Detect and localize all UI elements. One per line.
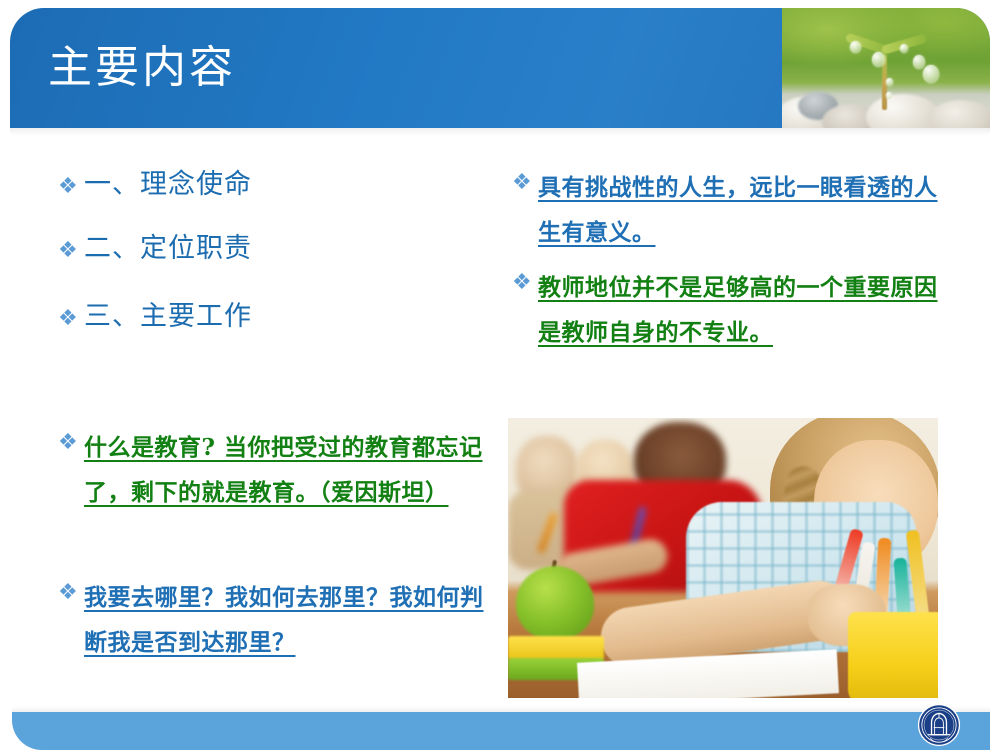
classroom-photo: [508, 418, 938, 698]
diamond-bullet-icon: ❖: [512, 172, 538, 194]
quote-left-2: ❖ 我要去哪里？我如何去那里？我如何判断我是否到达那里？: [58, 575, 488, 665]
quote-left-1-text: 什么是教育? 当你把受过的教育都忘记了，剩下的就是教育。（爱因斯坦）: [84, 425, 488, 515]
quote-right-1: ❖ 具有挑战性的人生，远比一眼看透的人生有意义。: [512, 165, 942, 255]
quote-right-2-text: 教师地位并不是足够高的一个重要原因是教师自身的不专业。: [538, 265, 942, 355]
nav-list-item-1[interactable]: ❖ 一、理念使命: [58, 168, 252, 202]
diamond-bullet-icon: ❖: [58, 240, 84, 262]
nav-list-item-label: 二、定位职责: [84, 232, 252, 266]
diamond-bullet-icon: ❖: [58, 176, 84, 198]
nav-list-item-2[interactable]: ❖ 二、定位职责: [58, 232, 252, 266]
diamond-bullet-icon: ❖: [58, 308, 84, 330]
quote-left-2-text: 我要去哪里？我如何去那里？我如何判断我是否到达那里？: [84, 575, 488, 665]
quote-left-1: ❖ 什么是教育? 当你把受过的教育都忘记了，剩下的就是教育。（爱因斯坦）: [58, 425, 488, 515]
quote-right-2-label: 教师地位并不是足够高的一个重要原因是教师自身的不专业。: [538, 274, 938, 346]
nav-list-item-label: 三、主要工作: [84, 300, 252, 334]
quote-right-2: ❖ 教师地位并不是足够高的一个重要原因是教师自身的不专业。: [512, 265, 942, 355]
diamond-bullet-icon: ❖: [512, 272, 538, 294]
slide-canvas: 主要内容 ❖ 一、理念使命 ❖ 二、定位职责 ❖ 三、主要工作 ❖ 具有挑战性的…: [0, 0, 1000, 750]
quote-left-1-label: 什么是教育? 当你把受过的教育都忘记了，剩下的就是教育。（爱因斯坦）: [84, 434, 482, 506]
nav-list-item-label: 一、理念使命: [84, 168, 252, 202]
quote-left-2-label: 我要去哪里？我如何去那里？我如何判断我是否到达那里？: [84, 584, 484, 656]
footer-band: [12, 712, 990, 750]
diamond-bullet-icon: ❖: [58, 432, 84, 454]
diamond-bullet-icon: ❖: [58, 582, 84, 604]
university-seal-logo-icon: [917, 703, 961, 747]
quote-right-1-label: 具有挑战性的人生，远比一眼看透的人生有意义。: [538, 174, 938, 246]
nav-list-item-3[interactable]: ❖ 三、主要工作: [58, 300, 252, 334]
quote-right-1-text: 具有挑战性的人生，远比一眼看透的人生有意义。: [538, 165, 942, 255]
